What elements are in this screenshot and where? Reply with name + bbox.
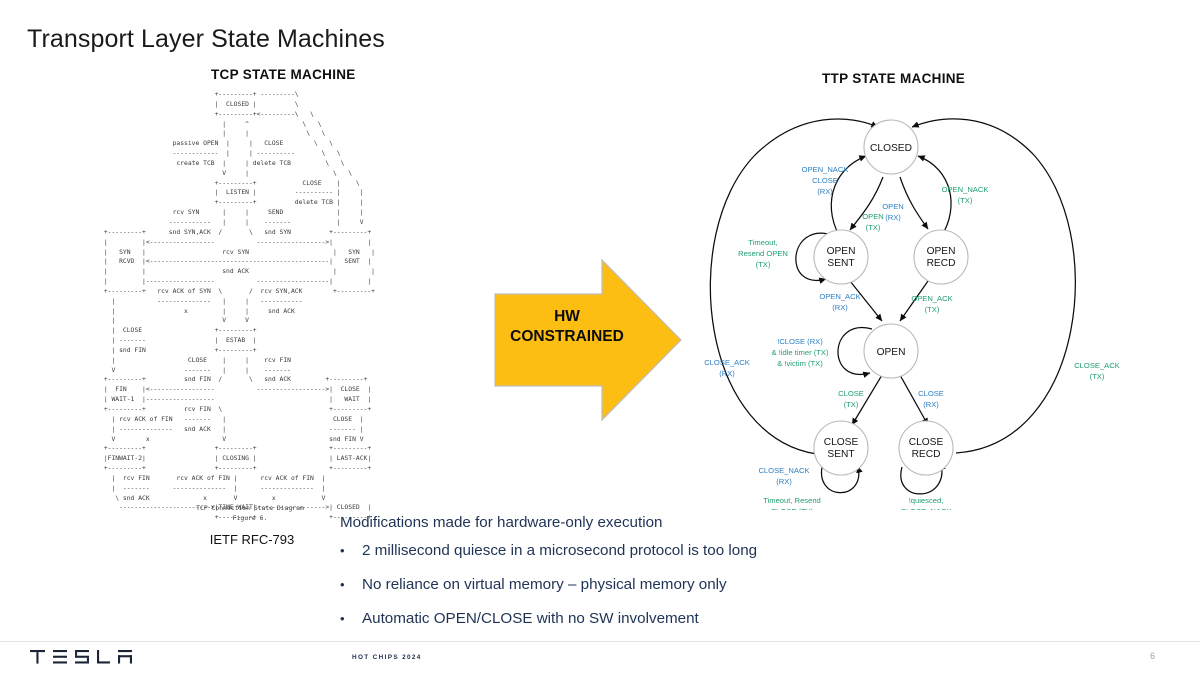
tcp-caption-line-2: Figure 6. [233,514,268,522]
bullet-text: 2 millisecond quiesce in a microsecond p… [362,540,900,562]
ttp-state-machine-diagram: CLOSED OPEN SENT OPEN RECD OPEN CLOSE SE… [660,85,1200,510]
svg-text:OPEN_NACK: OPEN_NACK [942,185,989,194]
bullet-dot-icon: • [340,608,362,630]
bullet-text: Automatic OPEN/CLOSE with no SW involvem… [362,608,900,630]
hw-arrow-label-line-2: CONSTRAINED [492,327,642,347]
slide-root: Transport Layer State Machines TCP STATE… [0,0,1200,675]
tcp-caption-line-1: TCP Connection State Diagram [196,504,304,512]
tesla-logo [30,650,150,664]
svg-text:Resend OPEN: Resend OPEN [738,249,788,258]
svg-text:Timeout, Resend: Timeout, Resend [763,496,821,505]
svg-text:CLOSE_NACK: CLOSE_NACK [900,507,951,510]
state-node-open-recd[interactable]: OPEN RECD [914,230,968,284]
svg-text:OPEN_ACK: OPEN_ACK [911,294,952,303]
state-label-close-recd-2: RECD [912,449,941,460]
edge-label-quiesced: !quiesced, CLOSE_NACK (TX) [900,496,951,510]
svg-text:& !idle timer (TX): & !idle timer (TX) [772,348,829,357]
tcp-ascii-state-diagram: +---------+ ---------\ | CLOSED | \ +---… [100,90,375,523]
edge-label-close-nack-rx: CLOSE_NACK (RX) [758,466,809,486]
state-node-open-sent[interactable]: OPEN SENT [814,230,868,284]
bullet-item: • Automatic OPEN/CLOSE with no SW involv… [340,608,900,630]
ttp-section-heading: TTP STATE MACHINE [822,71,965,86]
svg-text:CLOSE_ACK: CLOSE_ACK [1074,361,1120,370]
svg-text:(RX): (RX) [776,477,792,486]
state-label-close-sent-2: SENT [827,449,854,460]
edge-open-sent-to-open [850,281,882,321]
svg-text:Timeout,: Timeout, [748,238,777,247]
svg-text:!quiesced,: !quiesced, [909,496,944,505]
state-label-open-recd-2: RECD [927,258,956,269]
edge-label-open-ack-tx: OPEN_ACK (TX) [911,294,952,314]
svg-text:(TX): (TX) [925,305,940,314]
svg-text:(TX): (TX) [844,400,859,409]
edge-label-open-ack-rx: OPEN_ACK (RX) [819,292,860,312]
svg-text:(TX): (TX) [756,260,771,269]
svg-text:OPEN_NACK: OPEN_NACK [802,165,849,174]
page-title: Transport Layer State Machines [27,25,385,54]
svg-text:OPEN: OPEN [862,212,884,221]
edge-closed-to-open-recd [900,177,928,229]
footer-event-label: HOT CHIPS 2024 [352,654,422,661]
svg-text:(TX): (TX) [1090,372,1105,381]
svg-text:(TX): (TX) [866,223,881,232]
bullet-dot-icon: • [340,540,362,562]
edge-label-open-nack-close-rx: OPEN_NACK CLOSE (RX) [802,165,849,196]
edge-label-open-nack-tx: OPEN_NACK (TX) [942,185,989,205]
state-label-open-sent-2: SENT [827,258,854,269]
svg-text:CLOSE: CLOSE [812,176,838,185]
svg-text:CLOSE_ACK: CLOSE_ACK [704,358,750,367]
svg-text:(RX): (RX) [832,303,848,312]
svg-text:OPEN_ACK: OPEN_ACK [819,292,860,301]
tcp-source-reference: IETF RFC-793 [188,532,316,547]
hw-constrained-label: HW CONSTRAINED [492,307,642,347]
state-node-close-sent[interactable]: CLOSE SENT [814,421,868,475]
bullet-text: No reliance on virtual memory – physical… [362,574,900,596]
svg-text:CLOSE: CLOSE [918,389,944,398]
bullet-dot-icon: • [340,574,362,596]
svg-text:(RX): (RX) [817,187,833,196]
svg-text:CLOSE: CLOSE [838,389,864,398]
tcp-diagram-caption: TCP Connection State DiagramFigure 6. [185,504,315,523]
edge-label-open-tx: OPEN (TX) [862,212,884,232]
svg-text:(RX): (RX) [923,400,939,409]
footer-bar [0,642,1200,675]
body-lead-text: Modifications made for hardware-only exe… [340,512,900,533]
edge-open-recd-to-closed [918,156,951,237]
edge-label-close-ack-rx: CLOSE_ACK (RX) [704,358,750,378]
state-label-closed: CLOSED [870,143,912,154]
bullet-item: • No reliance on virtual memory – physic… [340,574,900,596]
edge-label-close-rx: CLOSE (RX) [918,389,944,409]
state-node-closed[interactable]: CLOSED [864,120,918,174]
tcp-section-heading: TCP STATE MACHINE [211,67,356,82]
edge-label-timeout-resend-open: Timeout, Resend OPEN (TX) [738,238,788,269]
edge-label-timeout-resend-close: Timeout, Resend CLOSE (TX) [763,496,821,510]
svg-text:!CLOSE (RX): !CLOSE (RX) [777,337,823,346]
svg-text:(RX): (RX) [885,213,901,222]
svg-text:CLOSE (TX): CLOSE (TX) [771,507,814,510]
state-label-close-recd-1: CLOSE [909,437,944,448]
hw-arrow-label-line-1: HW [492,307,642,327]
edge-label-close-tx: CLOSE (TX) [838,389,864,409]
svg-text:(TX): (TX) [958,196,973,205]
state-node-close-recd[interactable]: CLOSE RECD [899,421,953,475]
bullet-item: • 2 millisecond quiesce in a microsecond… [340,540,900,562]
footer-page-number: 6 [1150,651,1155,661]
svg-text:CLOSE_NACK: CLOSE_NACK [758,466,809,475]
body-copy: Modifications made for hardware-only exe… [340,512,900,642]
edge-label-open-self: !CLOSE (RX) & !idle timer (TX) & !victim… [772,337,829,368]
state-label-close-sent-1: CLOSE [824,437,859,448]
svg-text:& !victim (TX): & !victim (TX) [777,359,823,368]
svg-text:OPEN: OPEN [882,202,904,211]
svg-text:(RX): (RX) [719,369,735,378]
state-label-open-recd-1: OPEN [927,246,956,257]
state-node-open[interactable]: OPEN [864,324,918,378]
edge-label-close-ack-tx: CLOSE_ACK (TX) [1074,361,1120,381]
state-label-open-sent-1: OPEN [827,246,856,257]
edge-label-open-rx: OPEN (RX) [882,202,904,222]
state-label-open: OPEN [877,347,906,358]
